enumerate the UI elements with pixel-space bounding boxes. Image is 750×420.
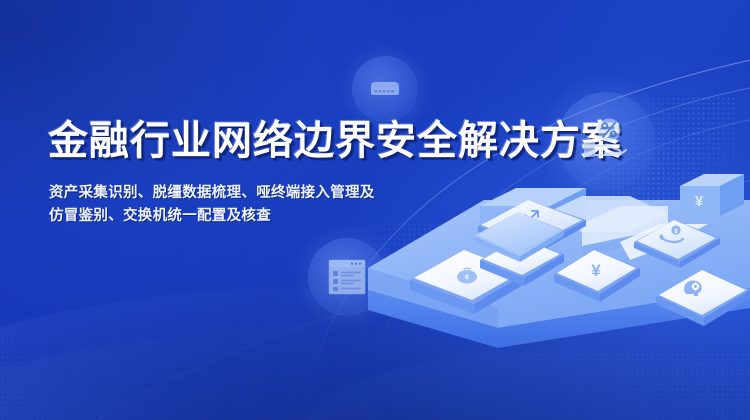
page-subtitle: 资产采集识别、脱缰数据梳理、哑终端接入管理及 仿冒鉴别、交换机统一配置及核查 — [49, 182, 379, 228]
subtitle-line-2: 仿冒鉴别、交换机统一配置及核查 — [49, 208, 271, 224]
svg-text:¢: ¢ — [465, 273, 469, 282]
isometric-platform-illustration: ¥ ¢ — [368, 168, 750, 368]
banner-root: ¥ ¢ — [0, 0, 750, 420]
subtitle-line-1: 资产采集识别、脱缰数据梳理、哑终端接入管理及 — [49, 185, 375, 201]
network-switch-icon — [352, 56, 418, 122]
svg-text:¥: ¥ — [695, 193, 704, 210]
svg-text:¥: ¥ — [591, 261, 601, 280]
page-title: 金融行业网络边界安全解决方案 — [48, 121, 622, 161]
